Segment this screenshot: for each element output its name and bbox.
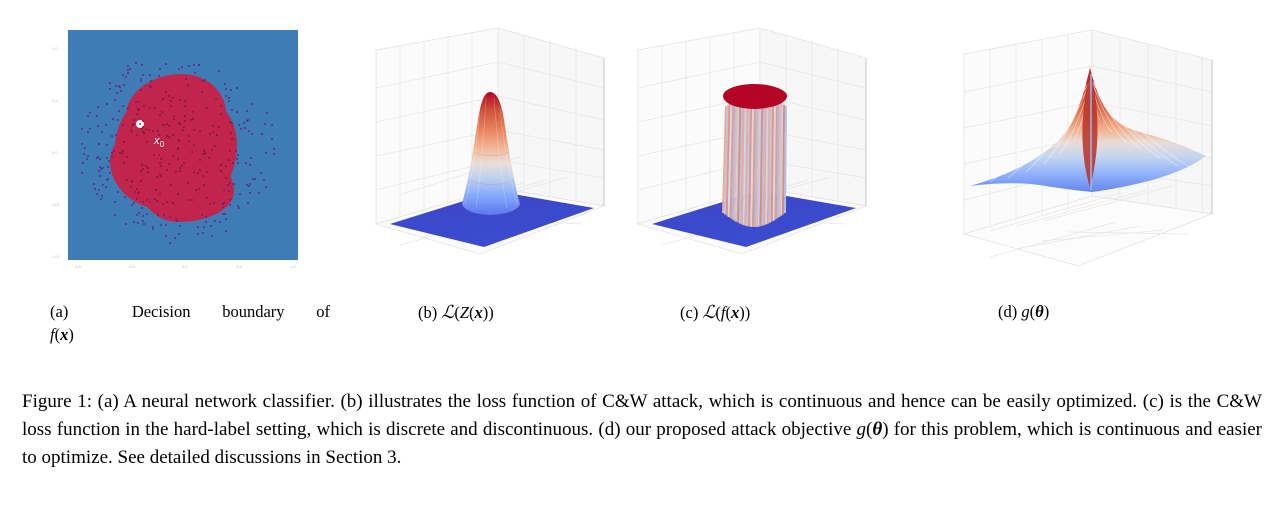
sample-point: [224, 213, 226, 215]
sample-point: [168, 95, 170, 97]
sample-point: [118, 110, 120, 112]
figure-caption-math: g(θ): [857, 419, 889, 440]
sample-point: [122, 124, 124, 126]
sample-point: [204, 79, 206, 81]
surface-plot-d: [950, 28, 1230, 290]
subcaption-a-math: f(x): [50, 325, 74, 344]
sample-point: [250, 157, 252, 159]
sample-point: [114, 214, 116, 216]
x-tick-label: -1.0: [74, 264, 81, 269]
sample-point: [159, 114, 161, 116]
sample-point: [131, 181, 133, 183]
sample-point: [225, 88, 227, 90]
sample-point: [225, 95, 227, 97]
sample-point: [273, 148, 275, 150]
sample-point: [264, 123, 266, 125]
sample-point: [173, 115, 175, 117]
sample-point: [159, 173, 161, 175]
sample-point: [178, 233, 180, 235]
sample-point: [271, 124, 273, 126]
sample-point: [106, 157, 108, 159]
sample-point: [188, 199, 190, 201]
sample-point: [177, 158, 179, 160]
sample-point: [99, 158, 101, 160]
sample-point: [134, 191, 136, 193]
sample-point: [194, 72, 196, 74]
sample-point: [179, 167, 181, 169]
sample-point: [101, 195, 103, 197]
sample-point: [149, 74, 151, 76]
sample-point: [170, 184, 172, 186]
panel-c-hardlabel-surface: [630, 28, 878, 290]
sample-point: [98, 170, 100, 172]
sample-point: [86, 158, 88, 160]
sample-point: [119, 86, 121, 88]
sample-point: [157, 130, 159, 132]
sample-point: [260, 172, 262, 174]
sample-point: [83, 153, 85, 155]
sample-point: [147, 167, 149, 169]
sample-point: [184, 115, 186, 117]
sample-point: [228, 97, 230, 99]
sample-point: [169, 216, 171, 218]
sample-point: [130, 186, 132, 188]
decision-boundary-plot: x0 -1.0-0.50.00.51.01.00.50.0-0.5-1.0: [30, 28, 330, 290]
sample-point: [89, 128, 91, 130]
sample-point: [222, 203, 224, 205]
sample-point: [121, 152, 123, 154]
sample-point: [89, 112, 91, 114]
sample-point: [108, 160, 110, 162]
x-tick-label: 0.5: [236, 264, 242, 269]
sample-point: [165, 63, 167, 65]
sample-point: [143, 223, 145, 225]
panel-d-objective-surface: [950, 28, 1230, 290]
sample-point: [228, 100, 230, 102]
sample-point: [87, 155, 89, 157]
subcaption-a: (a) Decision boundary of f(x): [50, 300, 330, 347]
sample-point: [153, 154, 155, 156]
sample-point: [125, 223, 127, 225]
sample-point: [240, 128, 242, 130]
sample-point: [109, 172, 111, 174]
sample-point: [204, 153, 206, 155]
sample-point: [198, 64, 200, 66]
sample-point: [105, 186, 107, 188]
sample-point: [193, 129, 195, 131]
x0-point-label: x0: [154, 135, 164, 149]
sample-point: [145, 128, 147, 130]
sample-point: [183, 126, 185, 128]
sample-point: [230, 132, 232, 134]
sample-point: [249, 183, 251, 185]
sample-point: [109, 82, 111, 84]
sample-point: [222, 206, 224, 208]
sample-point: [190, 119, 192, 121]
sample-point: [211, 149, 213, 151]
sample-point: [93, 183, 95, 185]
sample-point: [203, 226, 205, 228]
sample-point: [158, 75, 160, 77]
sample-point: [96, 115, 98, 117]
surface-svg-b: [368, 28, 616, 290]
figure-caption-label: Figure 1:: [22, 391, 92, 412]
sample-point: [133, 221, 135, 223]
sample-point: [127, 72, 129, 74]
sample-point: [247, 119, 249, 121]
sample-point: [237, 154, 239, 156]
subcaption-row: (a) Decision boundary of f(x) (b) ℒ(Z(x)…: [0, 300, 1282, 362]
sample-point: [131, 131, 133, 133]
sample-point: [152, 228, 154, 230]
sample-point: [106, 179, 108, 181]
sample-point: [136, 188, 138, 190]
sample-point: [229, 150, 231, 152]
sample-point: [273, 153, 275, 155]
sample-point: [214, 220, 216, 222]
sample-point: [238, 207, 240, 209]
x-tick-label: -0.5: [128, 264, 135, 269]
panel-a-decision-boundary: x0 -1.0-0.50.00.51.01.00.50.0-0.5-1.0: [30, 28, 350, 290]
sample-point: [124, 196, 126, 198]
surface-svg-d: [950, 28, 1230, 290]
sample-point: [87, 131, 89, 133]
sample-point: [123, 84, 125, 86]
sample-point: [162, 98, 164, 100]
sample-point: [261, 133, 263, 135]
sample-point: [97, 106, 99, 108]
sample-point: [168, 125, 170, 127]
sample-point: [102, 167, 104, 169]
sample-point: [133, 119, 135, 121]
sample-point: [197, 233, 199, 235]
sample-point: [231, 109, 233, 111]
sample-point: [173, 118, 175, 120]
sample-point: [160, 224, 162, 226]
sample-point: [220, 164, 222, 166]
sample-point: [154, 107, 156, 109]
sample-point: [168, 136, 170, 138]
sample-point: [158, 134, 160, 136]
sample-point: [142, 201, 144, 203]
sample-point: [165, 235, 167, 237]
sample-point: [157, 214, 159, 216]
sample-point: [165, 224, 167, 226]
sample-point: [210, 225, 212, 227]
sample-point: [271, 138, 273, 140]
sample-point: [120, 90, 122, 92]
sample-point: [172, 202, 174, 204]
sample-point: [150, 86, 152, 88]
sample-point: [107, 166, 109, 168]
sample-point: [188, 135, 190, 137]
sample-point: [197, 226, 199, 228]
sample-point: [135, 101, 137, 103]
sample-point: [229, 182, 231, 184]
subcaption-b: (b) ℒ(Z(x)): [418, 300, 618, 326]
sample-point: [172, 155, 174, 157]
x-tick-label: 0.0: [182, 264, 188, 269]
sample-point: [211, 235, 213, 237]
sample-point: [245, 162, 247, 164]
sample-point: [170, 100, 172, 102]
sample-point: [94, 188, 96, 190]
sample-point: [111, 135, 113, 137]
sample-point: [136, 214, 138, 216]
sample-point: [206, 197, 208, 199]
sample-point: [191, 199, 193, 201]
sample-point: [142, 126, 144, 128]
sample-point: [249, 192, 251, 194]
sample-point: [111, 156, 113, 158]
sample-point: [82, 162, 84, 164]
sample-point: [132, 124, 134, 126]
sample-point: [219, 221, 221, 223]
sample-point: [169, 242, 171, 244]
sample-point: [131, 204, 133, 206]
sample-point: [197, 172, 199, 174]
sample-point: [205, 216, 207, 218]
sample-point: [249, 164, 251, 166]
sample-point: [115, 134, 117, 136]
sample-point: [205, 221, 207, 223]
sample-point: [192, 118, 194, 120]
sample-point: [140, 89, 142, 91]
sample-point: [102, 184, 104, 186]
sample-point: [81, 172, 83, 174]
sample-point: [140, 80, 142, 82]
sample-point: [263, 179, 265, 181]
sample-point: [122, 74, 124, 76]
sample-point: [105, 124, 107, 126]
y-tick-label: -0.5: [52, 202, 59, 207]
sample-point: [233, 183, 235, 185]
sample-point: [246, 184, 248, 186]
sample-point: [141, 164, 143, 166]
sample-point: [142, 120, 144, 122]
sample-point: [238, 124, 240, 126]
sample-point: [202, 232, 204, 234]
sample-point: [142, 215, 144, 217]
sample-point: [236, 87, 238, 89]
sample-point: [181, 66, 183, 68]
y-tick-label: 0.0: [52, 150, 58, 155]
sample-point: [98, 189, 100, 191]
sample-point: [127, 65, 129, 67]
sample-point: [244, 127, 246, 129]
sample-point: [81, 128, 83, 130]
sample-point: [230, 89, 232, 91]
sample-point: [142, 74, 144, 76]
sample-point: [162, 203, 164, 205]
sample-point: [236, 111, 238, 113]
sample-point: [185, 78, 187, 80]
subcaption-d: (d) g(θ): [998, 300, 1198, 323]
sample-point: [135, 62, 137, 64]
sample-point: [106, 144, 108, 146]
panel-b-loss-surface: [368, 28, 616, 290]
sample-point: [138, 212, 140, 214]
sample-point: [141, 207, 143, 209]
sample-point: [117, 191, 119, 193]
sample-point: [174, 237, 176, 239]
sample-point: [236, 158, 238, 160]
sample-point: [159, 68, 161, 70]
sample-point: [159, 162, 161, 164]
x-tick-label: 1.0: [290, 264, 296, 269]
sample-point: [147, 171, 149, 173]
sample-point: [97, 156, 99, 158]
sample-point: [142, 220, 144, 222]
surface-plot-c: [630, 28, 878, 290]
sample-point: [159, 193, 161, 195]
sample-point: [115, 85, 117, 87]
sample-point: [224, 83, 226, 85]
surface-svg-c: [630, 28, 878, 290]
sample-point: [237, 162, 239, 164]
sample-point: [258, 192, 260, 194]
sample-point: [218, 70, 220, 72]
sample-point: [178, 140, 180, 142]
sample-point: [251, 103, 253, 105]
sample-point: [228, 159, 230, 161]
sample-point: [146, 213, 148, 215]
surface-plot-b: [368, 28, 616, 290]
sample-point: [229, 204, 231, 206]
sample-point: [248, 130, 250, 132]
sample-point: [87, 115, 89, 117]
sample-point: [81, 143, 83, 145]
sample-point: [163, 214, 165, 216]
sample-point: [163, 124, 165, 126]
sample-point: [243, 122, 245, 124]
sample-point: [235, 150, 237, 152]
sample-point: [96, 193, 98, 195]
sample-point: [225, 230, 227, 232]
sample-point: [133, 202, 135, 204]
sample-point: [191, 151, 193, 153]
sample-point: [106, 103, 108, 105]
sample-point: [225, 218, 227, 220]
sample-point: [114, 99, 116, 101]
figure-1: x0 -1.0-0.50.00.51.01.00.50.0-0.5-1.0: [0, 0, 1282, 519]
sample-point: [225, 177, 227, 179]
sample-point: [122, 105, 124, 107]
sample-point: [137, 222, 139, 224]
sample-point: [99, 175, 101, 177]
sample-point: [141, 64, 143, 66]
sample-point: [265, 186, 267, 188]
sample-point: [168, 163, 170, 165]
figure-panels: x0 -1.0-0.50.00.51.01.00.50.0-0.5-1.0: [0, 28, 1282, 318]
classifier-region-blue: x0: [68, 30, 298, 260]
sample-point: [178, 68, 180, 70]
sample-point: [127, 69, 129, 71]
sample-point: [179, 225, 181, 227]
sample-point: [146, 141, 148, 143]
sample-point: [184, 105, 186, 107]
sample-point: [239, 193, 241, 195]
sample-point: [84, 147, 86, 149]
y-tick-label: 0.5: [52, 98, 58, 103]
sample-point: [254, 178, 256, 180]
sample-point: [109, 88, 111, 90]
sample-point: [220, 113, 222, 115]
y-tick-label: -1.0: [52, 254, 59, 259]
sample-point: [97, 125, 99, 127]
sample-point: [206, 107, 208, 109]
sample-point: [126, 179, 128, 181]
sample-point: [129, 68, 131, 70]
sample-point: [166, 135, 168, 137]
sample-point: [117, 119, 119, 121]
figure-caption: Figure 1: (a) A neural network classifie…: [22, 388, 1262, 472]
sample-point: [137, 192, 139, 194]
sample-point: [251, 133, 253, 135]
sample-point: [247, 202, 249, 204]
sample-point: [112, 118, 114, 120]
sample-point: [100, 198, 102, 200]
y-tick-label: 1.0: [52, 46, 58, 51]
sample-point: [177, 193, 179, 195]
sample-point: [246, 110, 248, 112]
sample-point: [125, 76, 127, 78]
sample-point: [193, 64, 195, 66]
sample-point: [184, 100, 186, 102]
sample-point: [98, 143, 100, 145]
sample-point: [114, 201, 116, 203]
sample-point: [215, 98, 217, 100]
sample-point: [248, 185, 250, 187]
sample-point: [188, 65, 190, 67]
sample-point: [223, 189, 225, 191]
sample-point: [136, 134, 138, 136]
sample-point: [214, 145, 216, 147]
sample-point: [116, 92, 118, 94]
subcaption-c: (c) ℒ(f(x)): [680, 300, 880, 326]
sample-point: [225, 165, 227, 167]
plateau-cylinder-c: [722, 84, 787, 227]
sample-point: [228, 190, 230, 192]
sample-point: [101, 131, 103, 133]
sample-point: [213, 202, 215, 204]
sample-point: [266, 112, 268, 114]
sample-point: [265, 152, 267, 154]
